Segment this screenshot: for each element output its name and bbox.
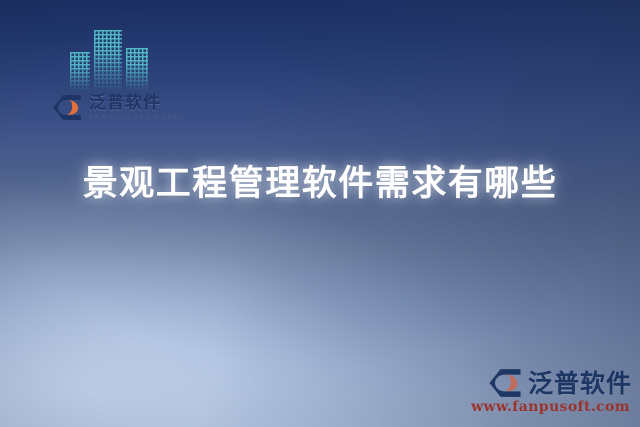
skyline-tower-left xyxy=(70,52,90,90)
watermark-brand-name-cn: 泛普软件 xyxy=(528,371,632,396)
skyline-tower-mid xyxy=(94,30,122,90)
skyline-tower-right xyxy=(126,48,148,90)
watermark: 泛普软件 www.fanpusoft.com xyxy=(472,368,632,415)
header-brand-logo: 泛普软件 FANPU SOFTWARE xyxy=(52,94,180,121)
watermark-logo-row: 泛普软件 xyxy=(488,368,632,398)
banner-canvas: 泛普软件 FANPU SOFTWARE 景观工程管理软件需求有哪些 泛普软件 w… xyxy=(0,0,640,427)
header-brand-name-cn: 泛普软件 xyxy=(89,95,180,112)
header-brand-name-en: FANPU SOFTWARE xyxy=(89,115,180,121)
header-brand-text: 泛普软件 FANPU SOFTWARE xyxy=(89,95,180,121)
dot-matrix-skyline-graphic xyxy=(68,26,156,90)
fanpu-logo-mark-icon xyxy=(52,94,82,121)
fanpu-logo-mark-icon xyxy=(488,368,522,398)
page-title: 景观工程管理软件需求有哪些 xyxy=(0,163,640,207)
watermark-url: www.fanpusoft.com xyxy=(471,399,630,415)
